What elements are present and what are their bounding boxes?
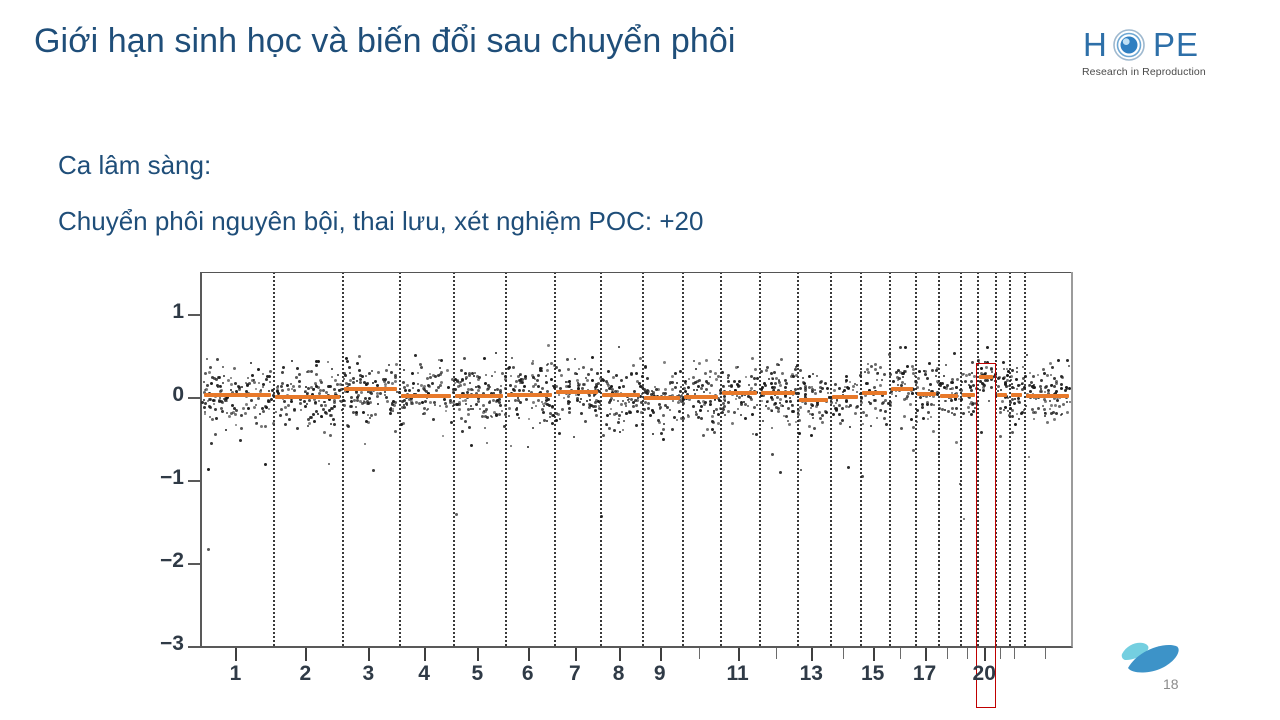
scatter-points xyxy=(202,272,1071,646)
median-segment xyxy=(1026,394,1069,398)
median-segment xyxy=(962,393,975,397)
x-tick-mark xyxy=(738,648,740,661)
x-tick-label: 3 xyxy=(363,662,375,686)
x-tick-mark xyxy=(305,648,307,661)
x-tick-mark xyxy=(619,648,621,661)
clinical-case-detail: Chuyển phôi nguyên bội, thai lưu, xét ng… xyxy=(58,204,703,238)
x-tick-mark xyxy=(900,648,901,659)
x-tick-label: 20 xyxy=(973,662,996,686)
hope-logo: H PE Research in Reproduction xyxy=(1081,28,1221,84)
x-tick-label: 6 xyxy=(522,662,534,686)
x-tick-mark xyxy=(967,648,968,659)
page-number: 18 xyxy=(1163,676,1179,692)
logo-letter-h: H xyxy=(1083,28,1107,61)
x-tick-mark xyxy=(424,648,426,661)
median-segment xyxy=(832,395,859,399)
x-tick-mark xyxy=(368,648,370,661)
x-tick-mark xyxy=(699,648,700,659)
chromosome-separator xyxy=(505,272,507,646)
x-tick-label: 9 xyxy=(654,662,666,686)
x-tick-mark xyxy=(575,648,577,661)
logo-letters-pe: PE xyxy=(1153,28,1199,61)
median-segment xyxy=(204,393,271,397)
egg-oocyte-icon xyxy=(1113,29,1145,61)
median-segment xyxy=(344,387,397,391)
chromosome-separator xyxy=(938,272,940,646)
cnv-log-ratio-scatter-chart: 10−1−2−31234567891113151720 xyxy=(140,258,1100,710)
x-tick-mark xyxy=(1045,648,1046,659)
median-segment xyxy=(684,395,719,399)
x-tick-mark xyxy=(1014,648,1015,659)
x-tick-mark xyxy=(843,648,844,659)
x-tick-label: 7 xyxy=(569,662,581,686)
chromosome-separator xyxy=(889,272,891,646)
x-tick-mark xyxy=(947,648,948,659)
x-tick-label: 8 xyxy=(613,662,625,686)
median-segment xyxy=(891,387,913,391)
x-tick-label: 2 xyxy=(300,662,312,686)
x-tick-label: 13 xyxy=(800,662,823,686)
chromosome-separator xyxy=(759,272,761,646)
median-segment xyxy=(722,391,756,395)
x-tick-mark xyxy=(1000,648,1001,659)
median-segment xyxy=(940,394,958,398)
x-tick-mark xyxy=(811,648,813,661)
chromosome-separator xyxy=(399,272,401,646)
y-tick-mark xyxy=(188,480,201,482)
median-segment xyxy=(917,392,936,396)
chromosome-separator xyxy=(600,272,602,646)
median-segment xyxy=(401,394,452,398)
median-segment xyxy=(507,393,552,397)
y-tick-label: −1 xyxy=(140,466,184,490)
median-segment xyxy=(556,390,598,394)
median-segment xyxy=(602,393,640,397)
x-tick-label: 5 xyxy=(471,662,483,686)
chromosome-20-highlight-box xyxy=(976,363,996,708)
chromosome-separator xyxy=(682,272,684,646)
x-tick-label: 4 xyxy=(418,662,430,686)
chromosome-separator xyxy=(915,272,917,646)
page-title: Giới hạn sinh học và biến đổi sau chuyển… xyxy=(34,22,736,61)
x-tick-mark xyxy=(235,648,237,661)
median-segment xyxy=(761,391,795,395)
y-tick-mark xyxy=(188,314,201,316)
chromosome-separator xyxy=(554,272,556,646)
x-tick-label: 15 xyxy=(861,662,884,686)
chromosome-separator xyxy=(1009,272,1011,646)
chromosome-separator xyxy=(960,272,962,646)
plot-area xyxy=(200,272,1073,648)
y-tick-label: −3 xyxy=(140,632,184,656)
x-tick-mark xyxy=(477,648,479,661)
x-tick-label: 1 xyxy=(230,662,242,686)
median-segment xyxy=(997,393,1007,397)
x-tick-label: 17 xyxy=(913,662,936,686)
median-segment xyxy=(644,396,680,400)
x-tick-label: 11 xyxy=(727,662,749,686)
median-segment xyxy=(1011,393,1022,397)
median-segment xyxy=(862,391,887,395)
chromosome-separator xyxy=(342,272,344,646)
median-segment xyxy=(799,398,828,402)
chromosome-separator xyxy=(453,272,455,646)
y-tick-mark xyxy=(188,646,201,648)
y-tick-label: −2 xyxy=(140,549,184,573)
logo-tagline: Research in Reproduction xyxy=(1082,66,1206,78)
zero-baseline xyxy=(202,272,1071,273)
body-text-block: Ca lâm sàng: Chuyển phôi nguyên bội, tha… xyxy=(58,148,703,238)
chromosome-separator xyxy=(830,272,832,646)
x-tick-mark xyxy=(873,648,875,661)
y-tick-label: 1 xyxy=(140,300,184,324)
chromosome-separator xyxy=(1024,272,1026,646)
logo-wordmark: H PE xyxy=(1081,28,1221,62)
x-tick-mark xyxy=(528,648,530,661)
chromosome-separator xyxy=(642,272,644,646)
plot-inner xyxy=(202,272,1071,646)
leaf-decoration-icon xyxy=(1118,636,1190,676)
x-tick-mark xyxy=(925,648,927,661)
x-tick-mark xyxy=(776,648,777,659)
x-tick-mark xyxy=(660,648,662,661)
median-segment xyxy=(275,395,340,399)
median-segment xyxy=(455,394,503,398)
y-tick-mark xyxy=(188,563,201,565)
x-tick-mark xyxy=(984,648,986,661)
chromosome-separator xyxy=(860,272,862,646)
chromosome-separator xyxy=(797,272,799,646)
y-tick-label: 0 xyxy=(140,383,184,407)
chromosome-separator xyxy=(720,272,722,646)
chromosome-separator xyxy=(273,272,275,646)
y-tick-mark xyxy=(188,397,201,399)
clinical-case-heading: Ca lâm sàng: xyxy=(58,148,703,182)
